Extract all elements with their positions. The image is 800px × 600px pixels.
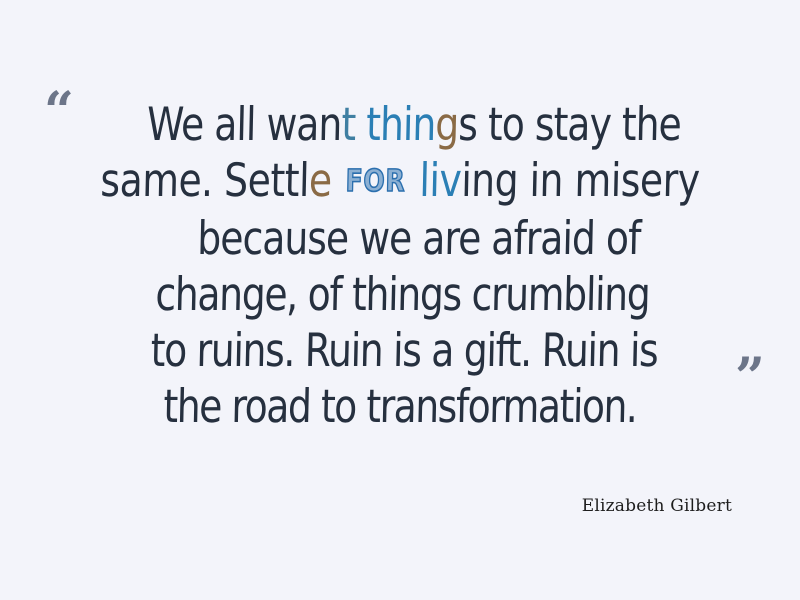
quote-text-run: thin [366,97,436,151]
quote-text-run: We all wan [146,97,342,151]
quote-text-run: same. Settl [100,153,310,207]
quote-text-run: because we are afraid of [197,211,641,265]
quote-text-block: We all want things to stay thesame. Sett… [0,96,800,434]
quote-text-run: the road to transformation. [163,379,637,433]
quote-line: change, of things crumbling [71,266,728,322]
quote-card: “ We all want things to stay thesame. Se… [0,0,800,600]
quote-line: because we are afraid of [71,210,728,266]
quote-text-run: t [341,97,367,151]
quote-text-run: g [435,97,459,151]
quote-word-outlined: FOR [343,164,408,199]
quote-text-run: liv [407,153,461,207]
quote-text-run: ing in misery [461,153,700,207]
attribution-author: Elizabeth Gilbert [582,496,732,516]
quote-line: We all want things to stay the [71,96,728,152]
quote-line: same. Settle FOR living in misery [71,152,728,210]
quote-line: to ruins. Ruin is a gift. Ruin is [71,322,728,378]
quote-text-run: e [308,153,343,207]
close-quote-icon: ” [735,352,765,404]
quote-text-run: change, of things crumbling [155,267,650,321]
quote-text-run: s to stay the [458,97,682,151]
quote-text-run: to ruins. Ruin is a gift. Ruin is [150,323,658,377]
quote-line: the road to transformation. [71,378,728,434]
